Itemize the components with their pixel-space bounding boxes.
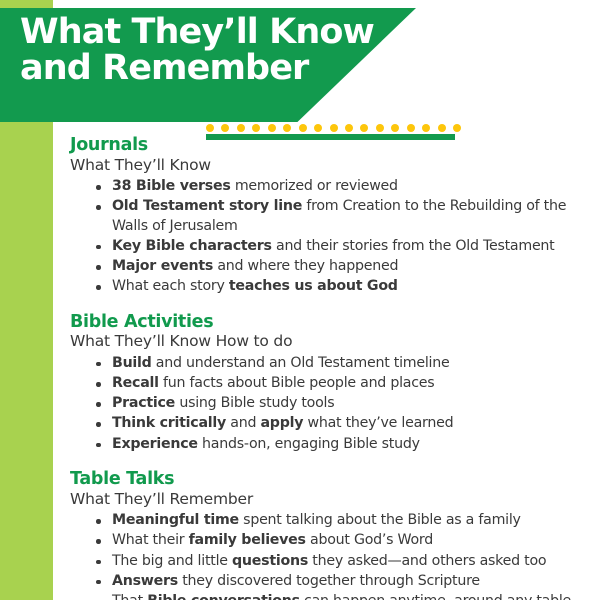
divider-dot	[438, 124, 446, 132]
list-item: Think critically and apply what they’ve …	[96, 414, 590, 433]
list-item: Recall fun facts about Bible people and …	[96, 374, 590, 393]
list-item-text: and understand an Old Testament timeline	[152, 355, 450, 371]
list-item-text: they asked—and others asked too	[308, 553, 546, 569]
list-item-emphasis: Major events	[112, 258, 213, 274]
list-item-emphasis: Experience	[112, 436, 198, 452]
list-item-text: and where they happened	[213, 258, 398, 274]
list-item-emphasis: family believes	[189, 532, 306, 548]
list-item: Key Bible characters and their stories f…	[96, 237, 590, 256]
list-item-text: and their stories from the Old Testament	[272, 238, 555, 254]
bullet-list: Meaningful time spent talking about the …	[70, 511, 590, 600]
list-item-emphasis: Think critically	[112, 415, 226, 431]
content-section: Bible ActivitiesWhat They’ll Know How to…	[70, 313, 590, 454]
list-item-emphasis: questions	[232, 553, 308, 569]
list-item: Old Testament story line from Creation t…	[96, 197, 590, 235]
sections-container: JournalsWhat They’ll Know38 Bible verses…	[70, 136, 590, 600]
list-item-emphasis: Old Testament story line	[112, 198, 302, 214]
divider-dot	[453, 124, 461, 132]
list-item-text: fun facts about Bible people and places	[159, 375, 435, 391]
list-item-emphasis: teaches us about God	[229, 278, 398, 294]
list-item: Major events and where they happened	[96, 257, 590, 276]
list-item-emphasis: Answers	[112, 573, 178, 589]
page-title: What They’ll Know and Remember	[20, 14, 380, 86]
list-item: Practice using Bible study tools	[96, 394, 590, 413]
bullet-list: 38 Bible verses memorized or reviewedOld…	[70, 177, 590, 296]
divider-dot	[237, 124, 245, 132]
list-item-text: and	[226, 415, 260, 431]
list-item-text: That	[112, 593, 147, 600]
divider-dot	[268, 124, 276, 132]
content-section: JournalsWhat They’ll Know38 Bible verses…	[70, 136, 590, 297]
list-item-emphasis: Practice	[112, 395, 175, 411]
list-item: What their family believes about God’s W…	[96, 531, 590, 550]
list-item-text: The big and little	[112, 553, 232, 569]
list-item-emphasis: apply	[260, 415, 303, 431]
list-item-emphasis: Bible conversations	[147, 593, 300, 600]
divider-dot	[221, 124, 229, 132]
list-item: The big and little questions they asked—…	[96, 552, 590, 571]
list-item: Answers they discovered together through…	[96, 572, 590, 591]
divider-dot	[422, 124, 430, 132]
section-title: Bible Activities	[70, 313, 590, 333]
section-subtitle: What They’ll Know How to do	[70, 332, 590, 351]
divider-dot	[345, 124, 353, 132]
divider-dot	[360, 124, 368, 132]
bullet-list: Build and understand an Old Testament ti…	[70, 354, 590, 454]
divider-dot	[314, 124, 322, 132]
list-item-text: what they’ve learned	[303, 415, 453, 431]
list-item: What each story teaches us about God	[96, 277, 590, 296]
divider-dot	[407, 124, 415, 132]
divider-dot	[206, 124, 214, 132]
divider-dot	[330, 124, 338, 132]
section-subtitle: What They’ll Remember	[70, 490, 590, 509]
list-item-emphasis: Recall	[112, 375, 159, 391]
list-item-text: What their	[112, 532, 189, 548]
list-item-text: spent talking about the Bible as a famil…	[239, 512, 521, 528]
list-item-text: What each story	[112, 278, 229, 294]
list-item-text: they discovered together through Scriptu…	[178, 573, 480, 589]
section-subtitle: What They’ll Know	[70, 156, 590, 175]
list-item: Experience hands-on, engaging Bible stud…	[96, 435, 590, 454]
list-item: Build and understand an Old Testament ti…	[96, 354, 590, 373]
list-item-emphasis: Build	[112, 355, 152, 371]
divider-dot-row	[206, 122, 461, 133]
divider-dot	[299, 124, 307, 132]
list-item-emphasis: Meaningful time	[112, 512, 239, 528]
list-item-text: can happen anytime, around any table	[300, 593, 571, 600]
divider-dot	[391, 124, 399, 132]
list-item-text: memorized or reviewed	[231, 178, 398, 194]
content-section: Table TalksWhat They’ll RememberMeaningf…	[70, 470, 590, 600]
divider-dot	[376, 124, 384, 132]
list-item: Meaningful time spent talking about the …	[96, 511, 590, 530]
list-item-emphasis: 38 Bible verses	[112, 178, 231, 194]
list-item-text: using Bible study tools	[175, 395, 334, 411]
divider-dot	[283, 124, 291, 132]
list-item: 38 Bible verses memorized or reviewed	[96, 177, 590, 196]
list-item-emphasis: Key Bible characters	[112, 238, 272, 254]
section-title: Journals	[70, 136, 590, 156]
section-title: Table Talks	[70, 470, 590, 490]
list-item-text: hands-on, engaging Bible study	[198, 436, 420, 452]
list-item-text: about God’s Word	[306, 532, 433, 548]
infographic-page: What They’ll Know and Remember JournalsW…	[0, 0, 600, 600]
list-item: That Bible conversations can happen anyt…	[96, 592, 590, 600]
divider-dot	[252, 124, 260, 132]
